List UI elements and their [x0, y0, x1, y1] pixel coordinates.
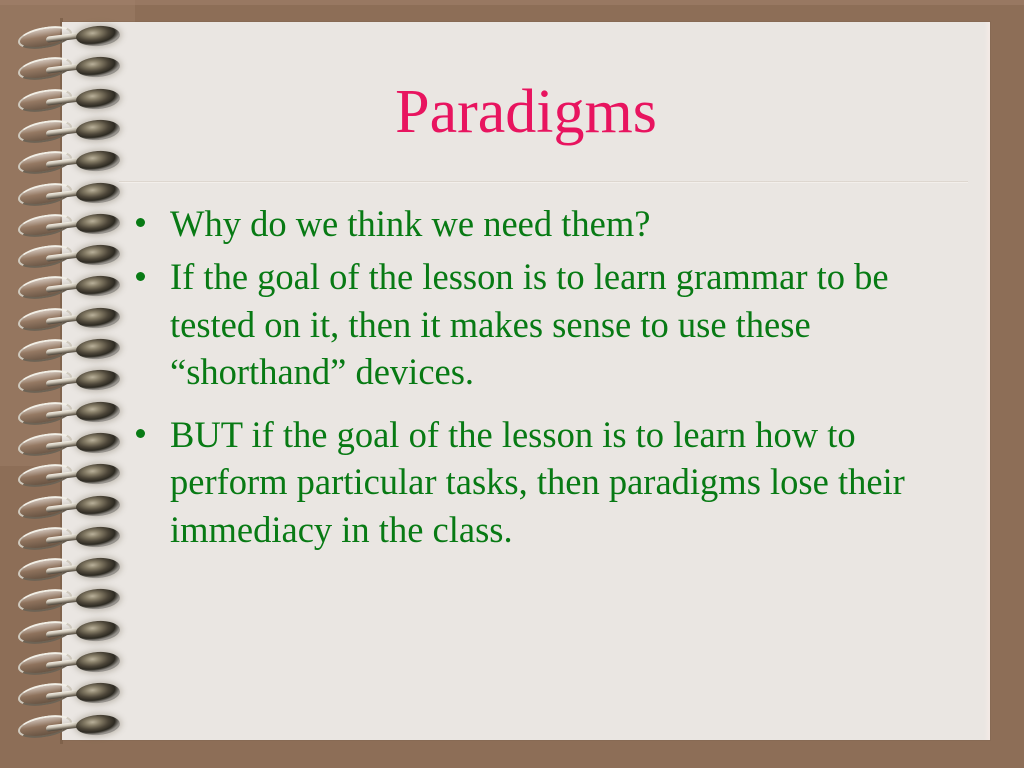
background-top-edge	[0, 0, 1024, 5]
list-item-text: BUT if the goal of the lesson is to lear…	[170, 411, 978, 553]
slide-canvas: Paradigms Why do we think we need them? …	[0, 0, 1024, 768]
list-item-text: If the goal of the lesson is to learn gr…	[170, 253, 978, 395]
bullet-list: Why do we think we need them? If the goa…	[122, 200, 978, 559]
bullet-dot-icon	[136, 429, 145, 438]
list-item: BUT if the goal of the lesson is to lear…	[122, 411, 978, 553]
list-item-text: Why do we think we need them?	[170, 200, 978, 247]
page-title: Paradigms	[62, 80, 990, 145]
title-divider-rule	[119, 181, 968, 183]
list-item: Why do we think we need them?	[122, 200, 978, 247]
notebook-page: Paradigms Why do we think we need them? …	[62, 22, 990, 740]
bullet-dot-icon	[136, 218, 145, 227]
list-item: If the goal of the lesson is to learn gr…	[122, 253, 978, 395]
bullet-dot-icon	[136, 272, 145, 281]
